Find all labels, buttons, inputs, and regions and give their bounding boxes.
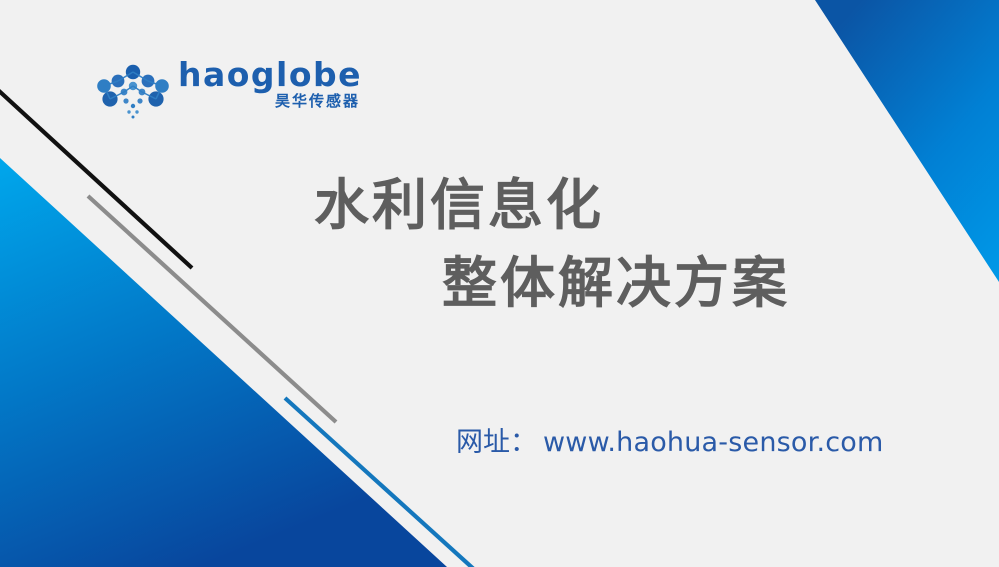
- website-line: 网址： www.haohua-sensor.com: [456, 420, 884, 459]
- slide-title: 水利信息化 整体解决方案: [314, 166, 934, 322]
- logo-subtext: 昊华传感器: [275, 93, 360, 110]
- haoglobe-network-mark: [96, 64, 170, 122]
- website-url[interactable]: www.haohua-sensor.com: [543, 427, 884, 458]
- logo-wordmark: haoglobe: [178, 58, 362, 92]
- company-logo: haoglobe 昊华传感器: [96, 58, 362, 122]
- title-line-2: 整体解决方案: [314, 244, 934, 322]
- presentation-slide: haoglobe 昊华传感器 水利信息化 整体解决方案 网址： www.haoh…: [0, 0, 999, 567]
- logo-text-group: haoglobe 昊华传感器: [178, 58, 362, 109]
- gray-diagonal-line: [88, 196, 336, 422]
- title-line-1: 水利信息化: [314, 166, 934, 244]
- blue-diagonal-line: [285, 398, 477, 567]
- website-label: 网址：: [456, 420, 537, 459]
